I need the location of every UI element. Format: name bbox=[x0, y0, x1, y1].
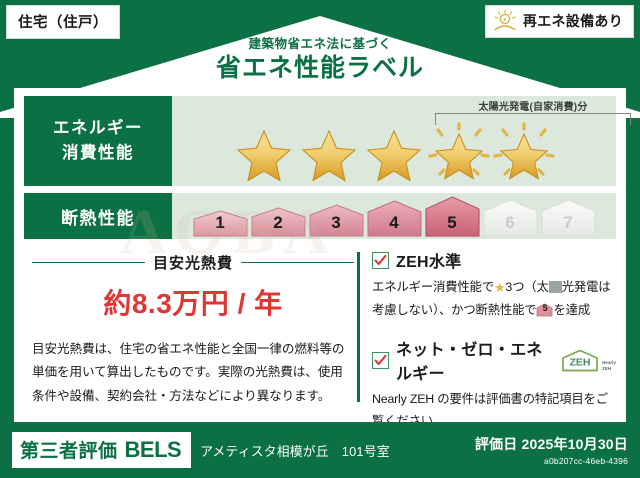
claim-net-zero-energy: ネット・ゼロ・エネルギー ZEH Nearly ZEH bbox=[372, 336, 616, 432]
footer-bar: 第三者評価 BELS アメティスタ相模が丘 101号室 評価日 2025年10月… bbox=[0, 422, 640, 478]
rule-right bbox=[241, 262, 354, 264]
checkbox-checked-icon bbox=[372, 252, 389, 269]
lower-section: 目安光熱費 約8.3万円 / 年 目安光熱費は、住宅の省エネ性能と全国一律の燃料… bbox=[24, 248, 616, 418]
insulation-house-7: 7 bbox=[540, 197, 597, 237]
insulation-performance-label: 断熱性能 bbox=[24, 193, 172, 239]
mini-house-level-number: 5 bbox=[536, 301, 553, 317]
utility-cost-heading-row: 目安光熱費 bbox=[32, 252, 354, 273]
insulation-house-4: 4 bbox=[366, 198, 423, 237]
zeh-certification-badge: ZEH Nearly ZEH bbox=[560, 348, 616, 373]
column-divider bbox=[357, 252, 360, 402]
insulation-house-2: 2 bbox=[250, 203, 307, 237]
insulation-level-number: 5 bbox=[424, 213, 481, 233]
bels-energy-label: 建築物省エネ法に基づく 省エネ性能ラベル 住宅（住戸） 再エネ設備あり エネルギ… bbox=[0, 0, 640, 478]
property-name: アメティスタ相模が丘 101号室 bbox=[200, 441, 390, 460]
claim-zeh-standard-head: ZEH水準 bbox=[372, 248, 616, 272]
zeh-badge-sub-line1: Nearly bbox=[602, 360, 616, 365]
zeh-house-icon: ZEH bbox=[560, 348, 600, 373]
sun-renewable-icon bbox=[492, 9, 518, 33]
utility-cost-column: 目安光熱費 約8.3万円 / 年 目安光熱費は、住宅の省エネ性能と全国一律の燃料… bbox=[24, 248, 354, 418]
zeh-badge-subtext: Nearly ZEH bbox=[602, 360, 616, 373]
energy-star-rating bbox=[172, 122, 616, 182]
label-body-card: エネルギー 消費性能 太陽光発電(自家消費)分 bbox=[14, 88, 626, 422]
insulation-level-number: 6 bbox=[482, 213, 539, 233]
insulation-level-number: 2 bbox=[250, 213, 307, 233]
insulation-level-number: 4 bbox=[366, 213, 423, 233]
claim-net-zero-title: ネット・ゼロ・エネルギー bbox=[396, 336, 549, 384]
header-title-group: 建築物省エネ法に基づく 省エネ性能ラベル bbox=[0, 38, 640, 84]
insulation-level-scale: 1 2 3 bbox=[172, 195, 616, 237]
bels-logo: 第三者評価 BELS bbox=[12, 432, 191, 468]
evaluation-date: 評価日 2025年10月30日 bbox=[475, 434, 628, 454]
evaluation-id: a0b207cc-46eb-4396 bbox=[475, 456, 628, 466]
energy-performance-panel: 太陽光発電(自家消費)分 bbox=[172, 96, 616, 186]
footer-meta: 評価日 2025年10月30日 a0b207cc-46eb-4396 bbox=[475, 434, 628, 466]
utility-cost-note: 目安光熱費は、住宅の省エネ性能と全国一律の燃料等の単価を用いて算出したものです。… bbox=[32, 338, 354, 408]
star-icon-5 bbox=[493, 122, 555, 182]
star-icon-3 bbox=[363, 122, 425, 182]
claim-zeh-standard: ZEH水準 エネルギー消費性能で★3つ（太光発電は考慮しない）、かつ断熱性能で … bbox=[372, 248, 616, 321]
page-title: 省エネ性能ラベル bbox=[0, 53, 640, 84]
energy-performance-row: エネルギー 消費性能 太陽光発電(自家消費)分 bbox=[24, 96, 616, 186]
insulation-house-3: 3 bbox=[308, 201, 365, 237]
star-icon-2 bbox=[298, 122, 360, 182]
solar-generation-caption: 太陽光発電(自家消費)分 bbox=[420, 98, 640, 113]
renewable-equipment-badge: 再エネ設備あり bbox=[485, 5, 634, 38]
renewable-equipment-label: 再エネ設備あり bbox=[523, 11, 623, 31]
energy-performance-label: エネルギー 消費性能 bbox=[24, 96, 172, 186]
insulation-performance-row: 断熱性能 bbox=[24, 193, 616, 239]
insulation-level-number: 1 bbox=[192, 213, 249, 233]
energy-label-line1: エネルギー bbox=[53, 116, 143, 141]
zeh-badge-sub-line2: ZEH bbox=[602, 366, 611, 371]
insulation-level-number: 7 bbox=[540, 213, 597, 233]
zeh-body-part2: 3つ（太 bbox=[505, 280, 548, 294]
energy-label-line2: 消費性能 bbox=[62, 141, 134, 166]
checkbox-checked-icon bbox=[372, 352, 389, 369]
insulation-house-6: 6 bbox=[482, 197, 539, 237]
insulation-house-1: 1 bbox=[192, 205, 249, 237]
star-icon-1 bbox=[233, 122, 295, 182]
bels-logo-jp: 第三者評価 bbox=[20, 436, 118, 463]
inline-star-icon: ★ bbox=[494, 280, 505, 295]
star-icon-4 bbox=[428, 122, 490, 182]
claims-column: ZEH水準 エネルギー消費性能で★3つ（太光発電は考慮しない）、かつ断熱性能で … bbox=[354, 248, 616, 418]
insulation-level-number: 3 bbox=[308, 213, 365, 233]
insulation-performance-panel: 1 2 3 bbox=[172, 193, 616, 239]
claim-zeh-standard-body: エネルギー消費性能で★3つ（太光発電は考慮しない）、かつ断熱性能で 5 を達成 bbox=[372, 277, 616, 321]
utility-cost-heading: 目安光熱費 bbox=[153, 252, 233, 273]
building-type-badge: 住宅（住戸） bbox=[6, 5, 120, 39]
claim-net-zero-head: ネット・ゼロ・エネルギー ZEH Nearly ZEH bbox=[372, 336, 616, 384]
svg-text:ZEH: ZEH bbox=[569, 356, 590, 368]
claim-zeh-standard-title: ZEH水準 bbox=[396, 248, 462, 272]
rule-left bbox=[32, 262, 145, 264]
header-subtitle: 建築物省エネ法に基づく bbox=[0, 38, 640, 52]
utility-cost-value: 約8.3万円 / 年 bbox=[32, 282, 354, 322]
bels-logo-en: BELS bbox=[125, 437, 182, 463]
insulation-house-5: 5 bbox=[424, 195, 481, 237]
redaction-block bbox=[549, 281, 562, 293]
zeh-body-part1: エネルギー消費性能で bbox=[372, 280, 494, 294]
claims-spacer bbox=[372, 325, 616, 336]
mini-house-level-icon: 5 bbox=[536, 303, 553, 317]
zeh-body-part4: を達成 bbox=[553, 303, 590, 317]
